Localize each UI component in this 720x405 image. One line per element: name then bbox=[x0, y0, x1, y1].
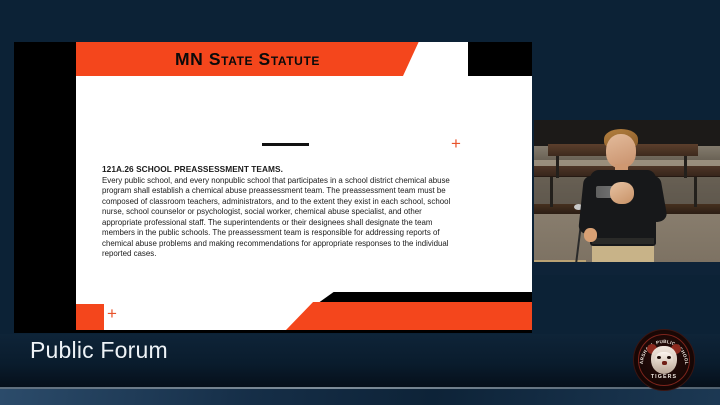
slide-body-heading: 121A.26 SCHOOL PREASSESSMENT TEAMS. bbox=[102, 164, 458, 175]
speaker-head bbox=[606, 134, 636, 168]
video-lower-mask bbox=[534, 262, 720, 275]
slide-title-white-fill bbox=[419, 42, 468, 76]
slide-title: MN State Statute bbox=[76, 42, 419, 76]
slide-body: 121A.26 SCHOOL PREASSESSMENT TEAMS. Ever… bbox=[102, 164, 458, 260]
slide-body-paragraph: Every public school, and every nonpublic… bbox=[102, 176, 458, 260]
slide-divider-rule bbox=[262, 143, 309, 146]
tiger-eye-icon bbox=[667, 356, 671, 359]
logo-bottom-text: TIGERS bbox=[634, 374, 694, 380]
speaker-hand bbox=[584, 228, 597, 242]
lower-third-title: Public Forum bbox=[30, 337, 168, 364]
table-leg bbox=[694, 177, 697, 207]
tiger-eye-icon bbox=[657, 356, 661, 359]
speaker-belt bbox=[592, 238, 654, 244]
presentation-slide: MN State Statute + + 121A.26 SCHOOL PREA… bbox=[14, 42, 532, 333]
footer-sheen bbox=[0, 389, 720, 405]
plus-decoration-icon: + bbox=[107, 305, 117, 322]
table-leg bbox=[550, 177, 553, 207]
slide-bottom-orange-right bbox=[286, 302, 532, 330]
table-leg bbox=[684, 156, 687, 178]
slide-bottom-orange-left bbox=[76, 304, 104, 330]
school-logo: MARSHALL PUBLIC SCHOOLS TIGERS bbox=[633, 329, 695, 391]
plus-decoration-icon: + bbox=[451, 135, 461, 152]
table-leg bbox=[556, 156, 559, 178]
broadcast-stage: MN State Statute + + 121A.26 SCHOOL PREA… bbox=[0, 0, 720, 405]
tiger-nose-icon bbox=[662, 361, 667, 365]
tiger-face-icon bbox=[655, 352, 673, 368]
speaker-hand bbox=[610, 182, 634, 204]
speaker-video-feed bbox=[534, 120, 720, 275]
